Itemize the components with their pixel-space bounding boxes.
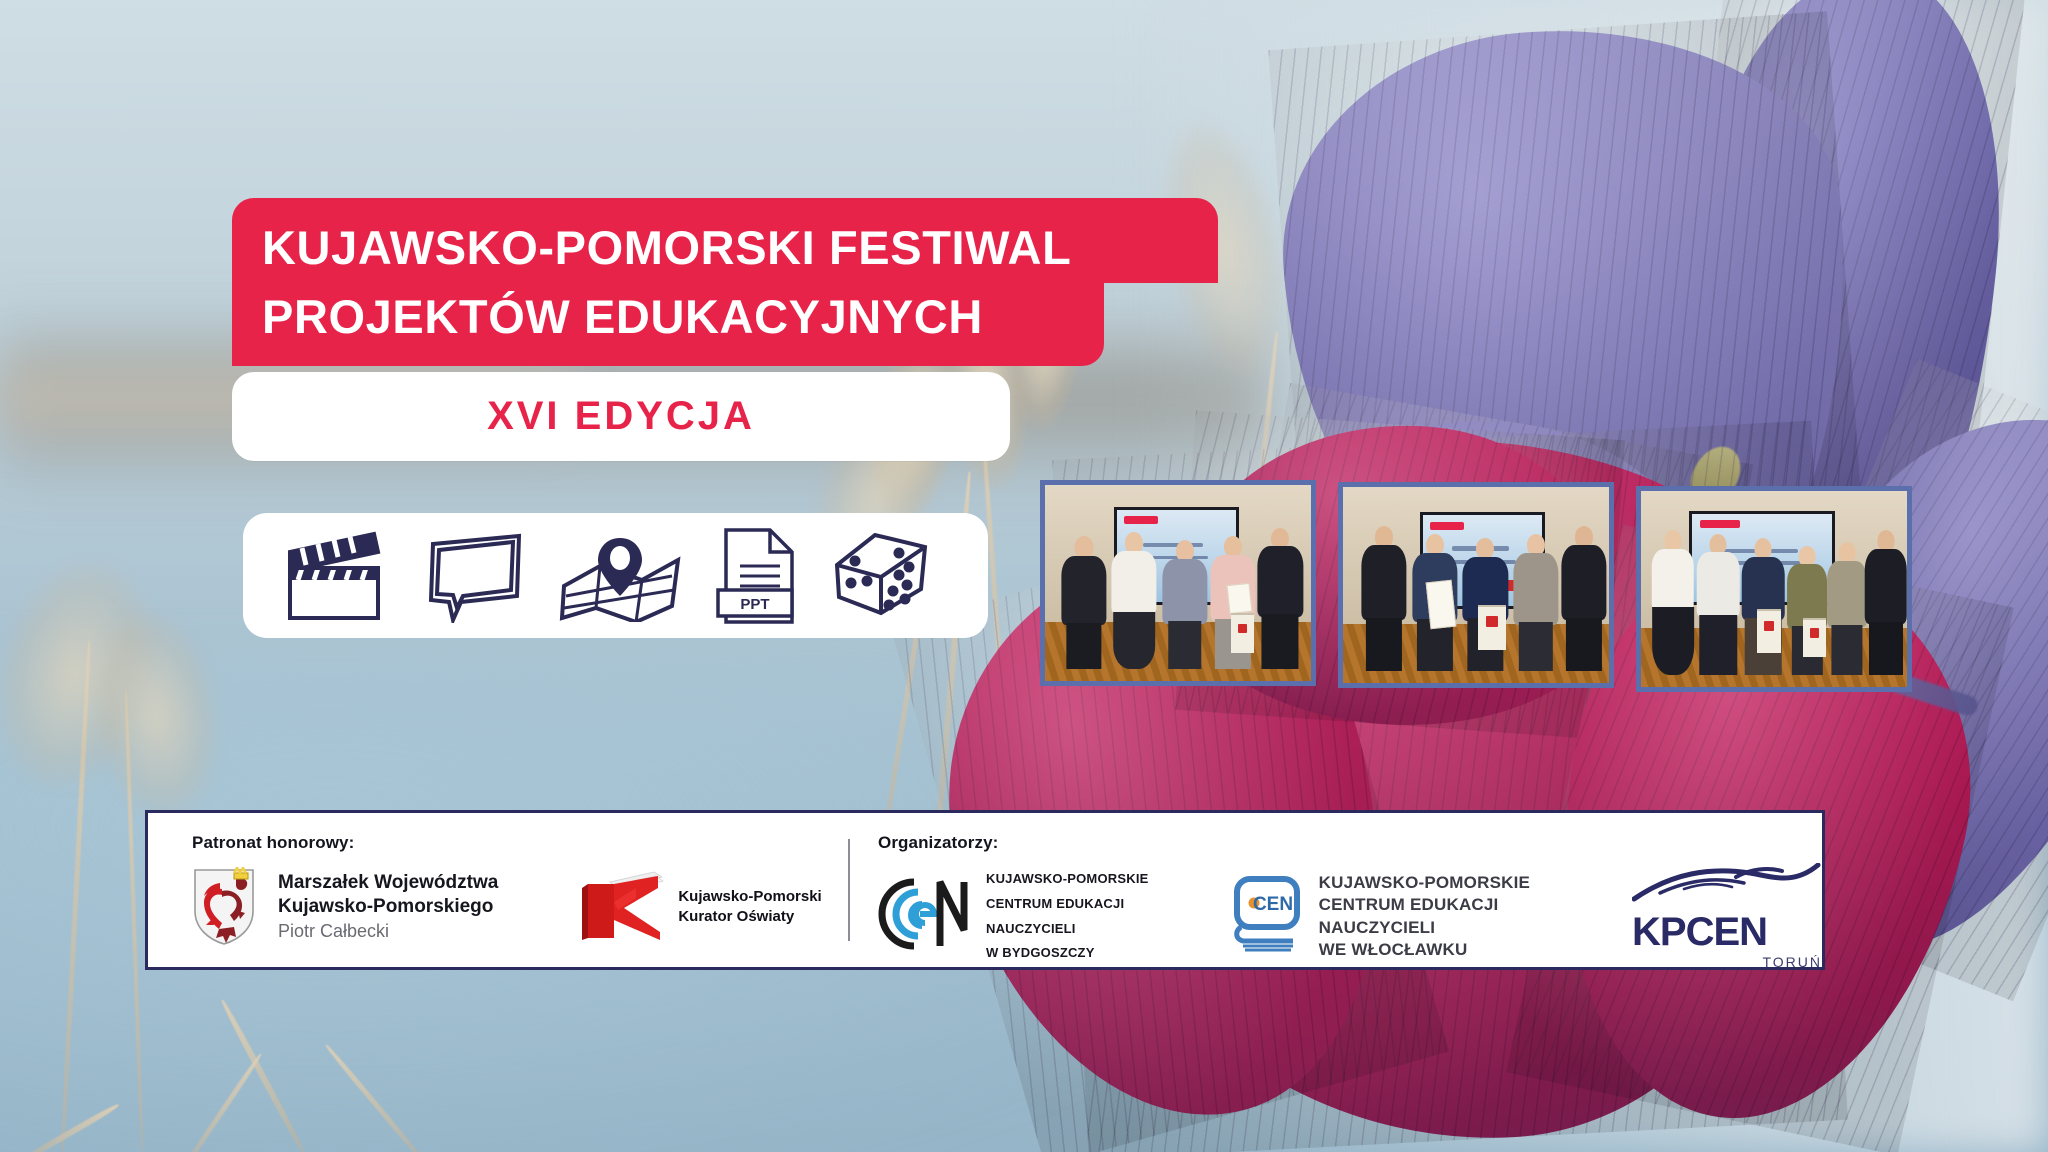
- kpcen-bird-icon: [1632, 863, 1822, 912]
- poster-title-block: KUJAWSKO-POMORSKI FESTIWAL PROJEKTÓW EDU…: [232, 198, 1218, 461]
- edition-badge: XVI EDYCJA: [232, 372, 1010, 461]
- kpcen-city: TORUŃ: [1632, 954, 1822, 970]
- cen-wloclawek-line-3: WE WŁOCŁAWKU: [1319, 939, 1566, 961]
- photo-gallery-2: [1338, 482, 1614, 688]
- photo-gallery-3: [1636, 486, 1912, 692]
- ppt-label: PPT: [740, 596, 769, 613]
- sponsor-bar: Patronat honorowy:: [145, 810, 1825, 970]
- icon-strip: PPT: [243, 513, 988, 638]
- cen-wloclawek-logo-label: CEN: [1253, 894, 1293, 915]
- organizers-kicker: Organizatorzy:: [878, 833, 1822, 853]
- kurator-book-k-icon: [580, 868, 666, 947]
- kpcen-torun-logo-block: KPCEN TORUŃ: [1632, 863, 1822, 970]
- marshal-line-1: Marszałek Województwa: [278, 871, 498, 894]
- cen-wloclawek-logo-block: CEN KUJAWSKO-POMORSKIE CENTRUM EDUKACJI …: [1231, 872, 1566, 960]
- cen-wloclawek-text-block: KUJAWSKO-POMORSKIE CENTRUM EDUKACJI NAUC…: [1319, 872, 1566, 960]
- kurator-text-block: Kujawsko-Pomorski Kurator Oświaty: [678, 887, 821, 928]
- kurator-line-1: Kujawsko-Pomorski: [678, 887, 821, 907]
- cen-bydgoszcz-line-3: W BYDGOSZCZY: [986, 941, 1171, 966]
- page-title-line-1: KUJAWSKO-POMORSKI FESTIWAL: [232, 198, 1218, 283]
- page-title-line-2: PROJEKTÓW EDUKACYJNYCH: [232, 281, 1104, 366]
- speech-bubble-icon: [419, 528, 531, 623]
- cen-bydgoszcz-logo-block: KUJAWSKO-POMORSKIE CENTRUM EDUKACJI NAUC…: [878, 867, 1171, 966]
- kujawsko-pomorskie-coat-of-arms-icon: [192, 867, 256, 947]
- organizers-section: Organizatorzy: KUJAWSKO-POMORSKIE CENTRU…: [850, 813, 1822, 967]
- kurator-line-2: Kurator Oświaty: [678, 907, 821, 927]
- marshal-name: Piotr Całbecki: [278, 921, 498, 943]
- patronage-section: Patronat honorowy:: [148, 813, 848, 967]
- cen-wloclawek-line-2: CENTRUM EDUKACJI NAUCZYCIELI: [1319, 894, 1566, 938]
- cen-wloclawek-icon: CEN: [1231, 873, 1305, 960]
- kpcen-name: KPCEN: [1632, 912, 1822, 952]
- cen-wloclawek-line-1: KUJAWSKO-POMORSKIE: [1319, 872, 1566, 894]
- cen-bydgoszcz-line-1: KUJAWSKO-POMORSKIE: [986, 867, 1171, 892]
- patronage-kicker: Patronat honorowy:: [192, 833, 848, 853]
- cen-bydgoszcz-line-2: CENTRUM EDUKACJI NAUCZYCIELI: [986, 892, 1171, 941]
- cen-bydgoszcz-text-block: KUJAWSKO-POMORSKIE CENTRUM EDUKACJI NAUC…: [986, 867, 1171, 966]
- map-pin-icon: [556, 530, 686, 622]
- clapperboard-icon: [282, 530, 394, 622]
- dice-icon: [829, 525, 949, 627]
- kurator-logo-block: Kujawsko-Pomorski Kurator Oświaty: [580, 868, 821, 947]
- marshal-line-2: Kujawsko-Pomorskiego: [278, 895, 498, 918]
- marshal-text-block: Marszałek Województwa Kujawsko-Pomorskie…: [278, 871, 498, 942]
- photo-gallery-1: [1040, 480, 1316, 686]
- ppt-file-icon: PPT: [712, 526, 804, 626]
- cen-bydgoszcz-icon: [878, 874, 970, 959]
